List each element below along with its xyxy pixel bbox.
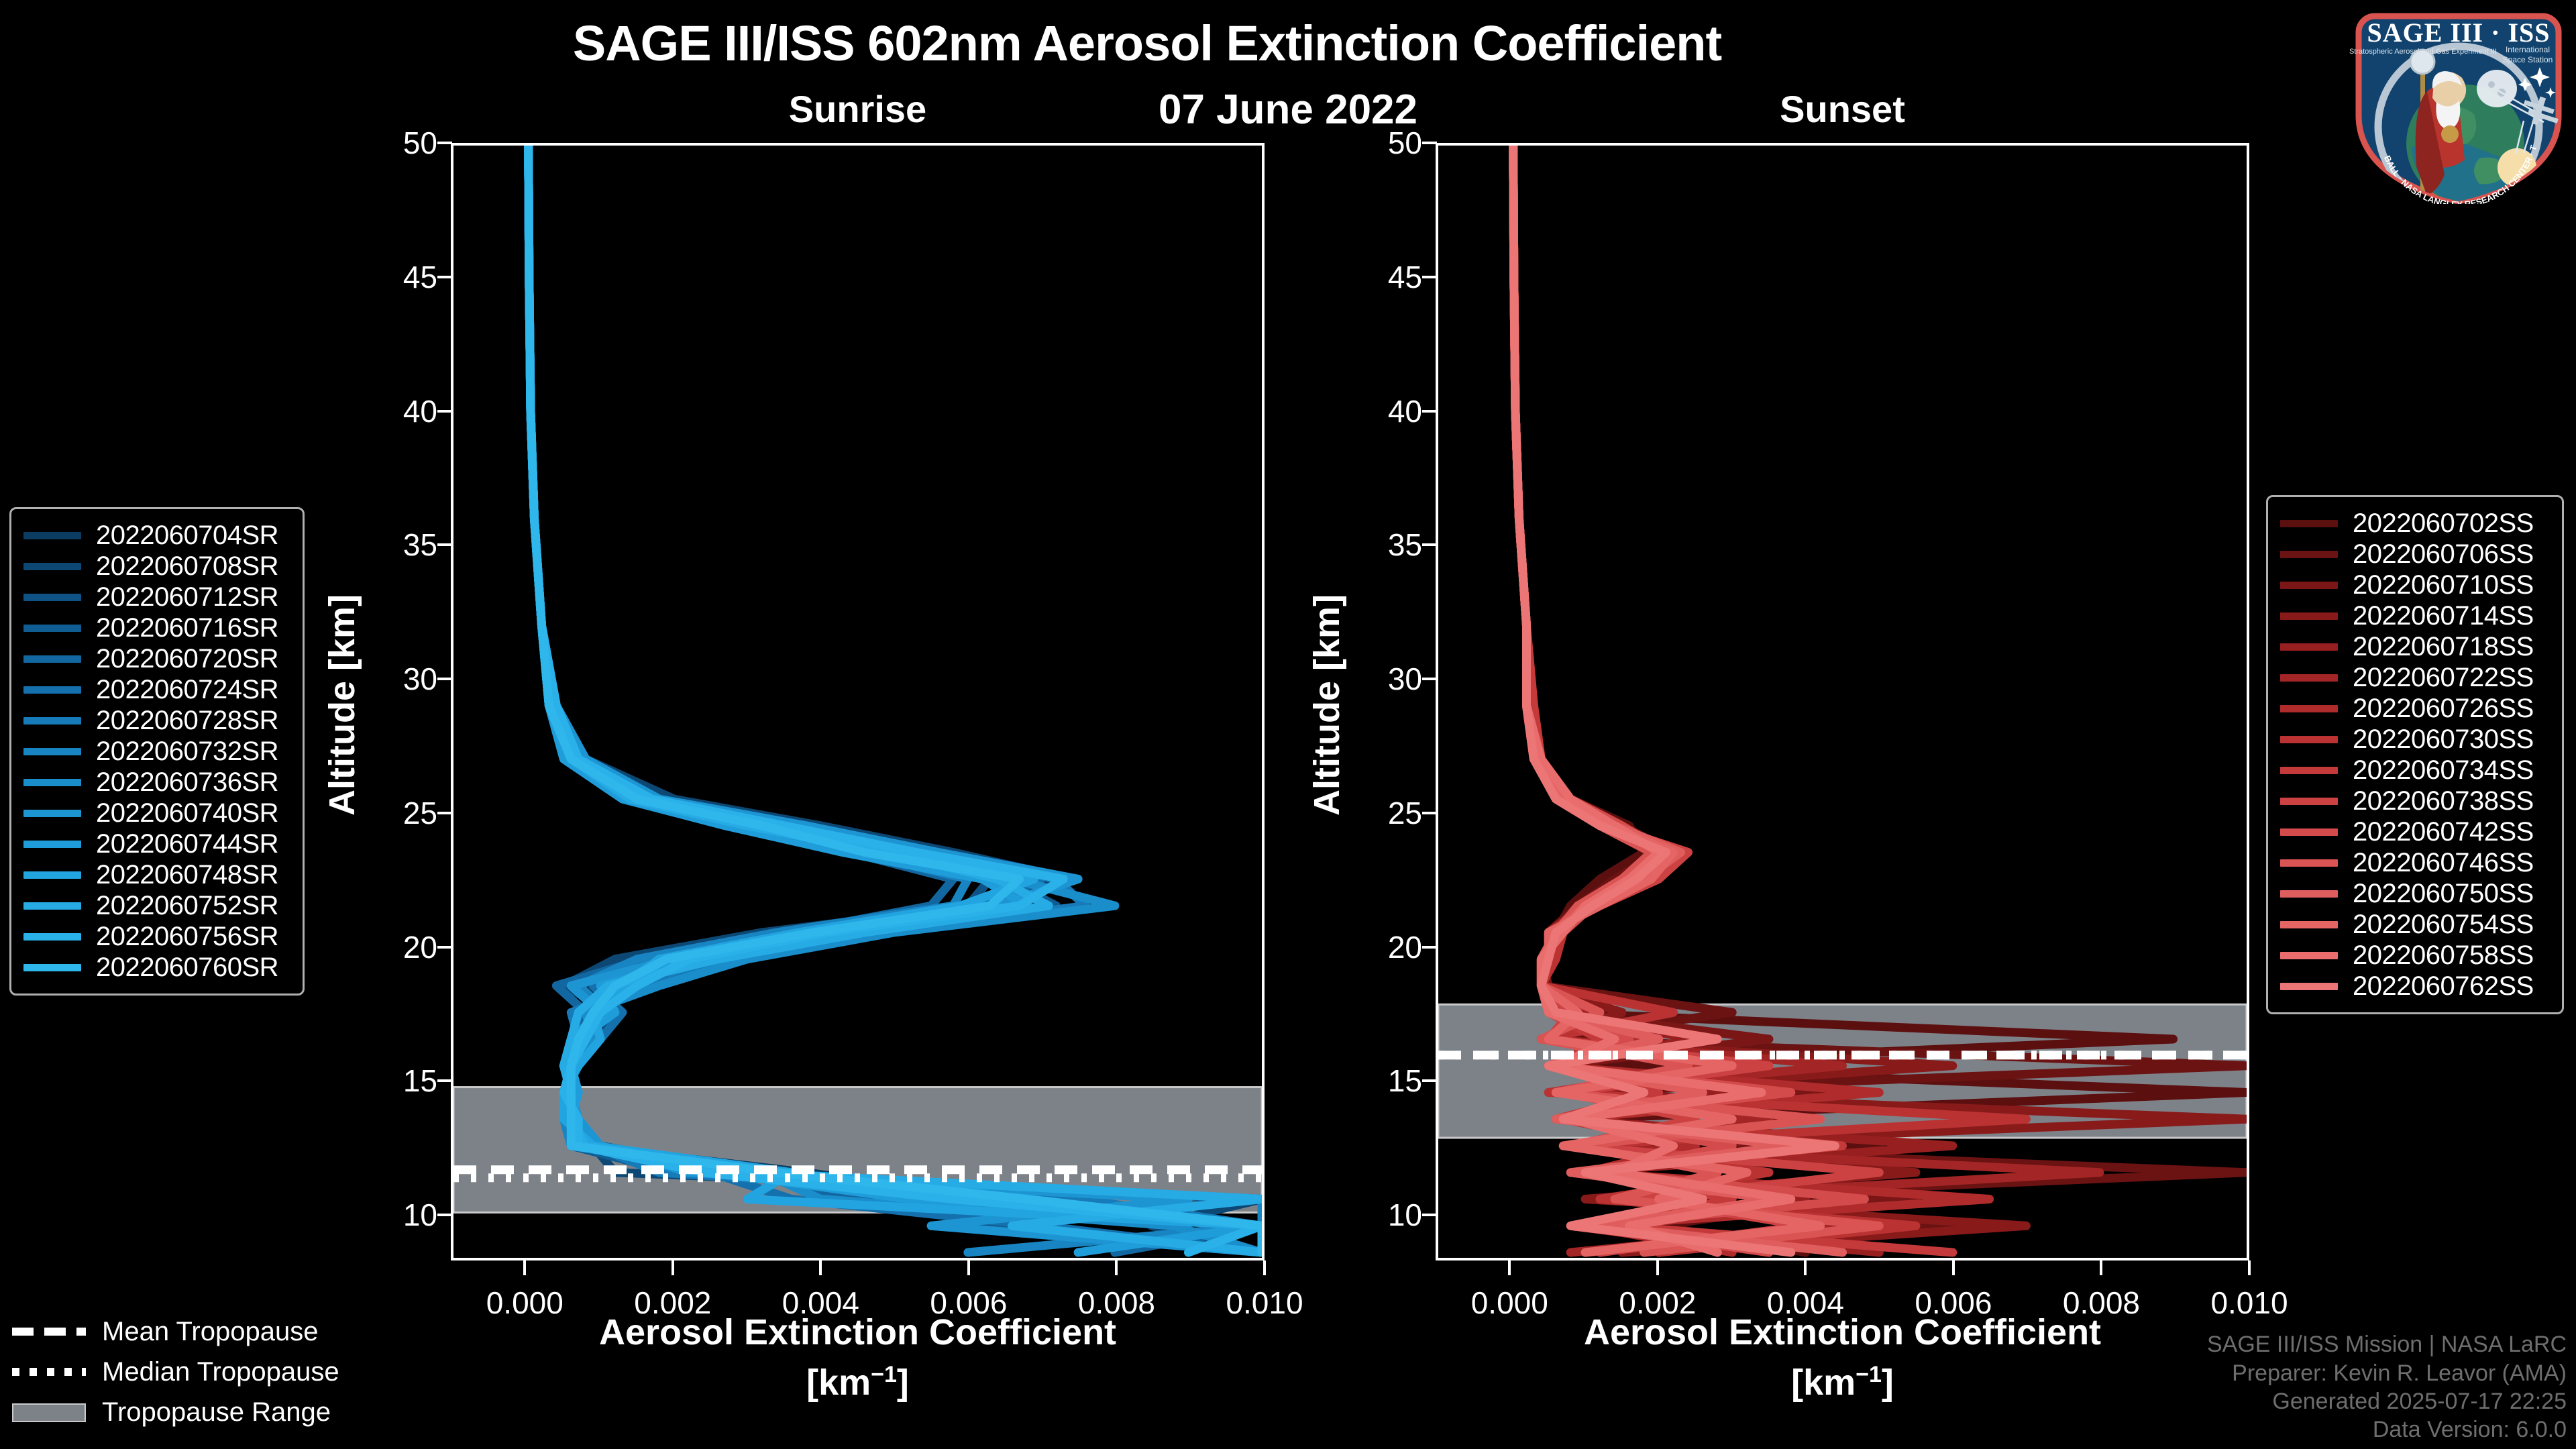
sunset-profile-lines — [1438, 146, 2247, 1258]
legend-color-swatch — [23, 964, 81, 971]
legend-event-label: 2022060754SS — [2353, 910, 2534, 940]
legend-item-2022060762SS[interactable]: 2022060762SS — [2280, 971, 2550, 1002]
unit-close: ] — [897, 1362, 909, 1403]
band-swatch-icon — [12, 1403, 86, 1421]
sunset-y-tick-label: 15 — [1328, 1063, 1422, 1099]
legend-event-label: 2022060760SR — [96, 953, 278, 983]
legend-event-label: 2022060706SS — [2353, 539, 2534, 570]
legend-event-label: 2022060722SS — [2353, 663, 2534, 693]
sunset-y-tick-label: 10 — [1328, 1197, 1422, 1233]
sunset-y-tick-mark — [1422, 1214, 1437, 1216]
sunset-y-tick-mark — [1422, 142, 1437, 144]
sunset-plot-panel[interactable] — [1436, 143, 2249, 1260]
legend-color-swatch — [2280, 705, 2338, 712]
sunrise-x-tick-mark — [1115, 1260, 1118, 1275]
legend-item-2022060716SR[interactable]: 2022060716SR — [23, 612, 290, 643]
sunset-y-tick-mark — [1422, 543, 1437, 546]
legend-item-2022060722SS[interactable]: 2022060722SS — [2280, 662, 2550, 693]
legend-item-2022060720SR[interactable]: 2022060720SR — [23, 643, 290, 674]
legend-item-2022060748SR[interactable]: 2022060748SR — [23, 859, 290, 890]
sunset-panel-title: Sunset — [1436, 87, 2249, 131]
mean-tropopause-label: Mean Tropopause — [102, 1317, 318, 1347]
sunset-y-tick-label: 50 — [1328, 125, 1422, 161]
legend-item-2022060708SR[interactable]: 2022060708SR — [23, 551, 290, 582]
legend-color-swatch — [2280, 520, 2338, 527]
legend-color-swatch — [2280, 859, 2338, 867]
dashed-line-icon — [12, 1323, 86, 1340]
legend-item-2022060718SS[interactable]: 2022060718SS — [2280, 631, 2550, 662]
sunrise-y-tick-mark — [437, 543, 452, 546]
legend-item-2022060706SS[interactable]: 2022060706SS — [2280, 539, 2550, 570]
sunset-x-tick-mark — [2248, 1260, 2251, 1275]
legend-event-label: 2022060714SS — [2353, 601, 2534, 631]
legend-event-label: 2022060704SR — [96, 521, 278, 551]
legend-item-2022060760SR[interactable]: 2022060760SR — [23, 952, 290, 983]
sunrise-y-tick-label: 35 — [343, 527, 437, 563]
sunset-x-tick-mark — [2100, 1260, 2102, 1275]
sunrise-y-tick-mark — [437, 1214, 452, 1216]
legend-event-label: 2022060758SS — [2353, 941, 2534, 971]
sunrise-x-tick-mark — [819, 1260, 822, 1275]
svg-text:Space Station: Space Station — [2503, 55, 2553, 64]
sunset-plot-area — [1438, 146, 2247, 1258]
legend-event-label: 2022060732SR — [96, 737, 278, 767]
sunset-y-axis-label: Altitude [km] — [1306, 564, 1348, 846]
sunset-x-tick-mark — [1656, 1260, 1659, 1275]
legend-color-swatch — [23, 748, 81, 755]
sunrise-panel-title: Sunrise — [451, 87, 1265, 131]
mission-patch-svg: SAGE III · ISS Stratospheric Aerosol and… — [2348, 3, 2569, 204]
legend-color-swatch — [2280, 767, 2338, 774]
legend-event-label: 2022060738SS — [2353, 786, 2534, 816]
legend-item-2022060724SR[interactable]: 2022060724SR — [23, 674, 290, 705]
sunrise-x-axis-label: Aerosol Extinction Coefficient — [451, 1311, 1265, 1353]
sunrise-x-tick-mark — [967, 1260, 970, 1275]
sunset-x-tick-mark — [1952, 1260, 1955, 1275]
sunset-y-tick-mark — [1422, 678, 1437, 680]
sunrise-y-tick-label: 10 — [343, 1197, 437, 1233]
legend-event-label: 2022060736SR — [96, 767, 278, 798]
legend-item-2022060742SS[interactable]: 2022060742SS — [2280, 816, 2550, 847]
legend-color-swatch — [23, 594, 81, 601]
sunset-y-tick-label: 45 — [1328, 259, 1422, 295]
logo-title: SAGE III · ISS — [2367, 17, 2550, 48]
unit-close: ] — [1882, 1362, 1894, 1403]
legend-item-2022060750SS[interactable]: 2022060750SS — [2280, 878, 2550, 909]
sage-iii-iss-mission-patch-logo: SAGE III · ISS Stratospheric Aerosol and… — [2348, 3, 2569, 204]
svg-text:Stratospheric Aerosol and Gas: Stratospheric Aerosol and Gas Experiment… — [2349, 48, 2497, 56]
legend-item-2022060726SS[interactable]: 2022060726SS — [2280, 693, 2550, 724]
legend-event-label: 2022060718SS — [2353, 632, 2534, 662]
legend-event-label: 2022060734SS — [2353, 755, 2534, 786]
legend-event-label: 2022060748SR — [96, 860, 278, 890]
unit-exponent: −1 — [871, 1362, 897, 1387]
legend-color-swatch — [2280, 983, 2338, 990]
sunrise-y-tick-mark — [437, 1079, 452, 1082]
sunrise-y-axis-label: Altitude [km] — [321, 564, 363, 846]
unit-base: [km — [1791, 1362, 1856, 1403]
legend-event-label: 2022060726SS — [2353, 694, 2534, 724]
legend-event-label: 2022060702SS — [2353, 508, 2534, 539]
dotted-line-icon — [12, 1363, 86, 1381]
credits-line-mission: SAGE III/ISS Mission | NASA LaRC — [2207, 1330, 2567, 1358]
sunset-y-tick-label: 40 — [1328, 393, 1422, 429]
legend-item-2022060740SR[interactable]: 2022060740SR — [23, 798, 290, 828]
legend-item-2022060710SS[interactable]: 2022060710SS — [2280, 570, 2550, 600]
legend-item-2022060756SR[interactable]: 2022060756SR — [23, 921, 290, 952]
unit-exponent: −1 — [1856, 1362, 1882, 1387]
legend-item-2022060752SR[interactable]: 2022060752SR — [23, 890, 290, 921]
legend-color-swatch — [2280, 736, 2338, 743]
sunrise-y-tick-label: 15 — [343, 1063, 437, 1099]
sunrise-x-tick-mark — [523, 1260, 526, 1275]
legend-color-swatch — [2280, 952, 2338, 959]
credits-block: SAGE III/ISS Mission | NASA LaRC Prepare… — [2207, 1330, 2567, 1444]
median-tropopause-label: Median Tropopause — [102, 1357, 339, 1387]
legend-item-2022060758SS[interactable]: 2022060758SS — [2280, 940, 2550, 971]
legend-event-label: 2022060710SS — [2353, 570, 2534, 600]
sunset-y-tick-mark — [1422, 946, 1437, 949]
legend-item-tropopause-range: Tropopause Range — [12, 1392, 388, 1432]
legend-color-swatch — [2280, 890, 2338, 898]
sunset-x-tick-mark — [1508, 1260, 1511, 1275]
legend-color-swatch — [2280, 828, 2338, 836]
legend-color-swatch — [2280, 551, 2338, 558]
legend-event-label: 2022060708SR — [96, 551, 278, 582]
sunrise-x-tick-mark — [672, 1260, 674, 1275]
sunrise-y-tick-mark — [437, 142, 452, 144]
legend-item-2022060712SR[interactable]: 2022060712SR — [23, 582, 290, 612]
legend-item-2022060738SS[interactable]: 2022060738SS — [2280, 786, 2550, 816]
sunrise-y-tick-mark — [437, 678, 452, 680]
sunset-y-tick-mark — [1422, 276, 1437, 278]
legend-color-swatch — [23, 779, 81, 786]
legend-color-swatch — [2280, 643, 2338, 651]
sunset-x-axis-unit: [km−1] — [1436, 1362, 2249, 1403]
legend-item-2022060704SR[interactable]: 2022060704SR — [23, 520, 290, 551]
legend-item-2022060732SR[interactable]: 2022060732SR — [23, 736, 290, 767]
legend-item-2022060728SR[interactable]: 2022060728SR — [23, 705, 290, 736]
legend-event-label: 2022060756SR — [96, 922, 278, 952]
legend-item-median-tropopause: Median Tropopause — [12, 1352, 388, 1392]
legend-event-label: 2022060750SS — [2353, 879, 2534, 909]
sunrise-y-tick-mark — [437, 812, 452, 814]
svg-text:International: International — [2506, 45, 2550, 54]
legend-item-2022060730SS[interactable]: 2022060730SS — [2280, 724, 2550, 755]
sunset-y-tick-label: 20 — [1328, 929, 1422, 965]
sunrise-x-axis-unit: [km−1] — [451, 1362, 1265, 1403]
tropopause-range-label: Tropopause Range — [102, 1397, 331, 1428]
legend-color-swatch — [23, 871, 81, 879]
credits-line-generated: Generated 2025-07-17 22:25 — [2207, 1387, 2567, 1415]
sunset-y-tick-mark — [1422, 1079, 1437, 1082]
sunset-event-legend[interactable]: 2022060702SS2022060706SS2022060710SS2022… — [2266, 495, 2564, 1014]
legend-color-swatch — [23, 717, 81, 724]
legend-color-swatch — [23, 841, 81, 848]
legend-event-label: 2022060730SS — [2353, 724, 2534, 755]
page-title: SAGE III/ISS 602nm Aerosol Extinction Co… — [0, 15, 2294, 72]
legend-event-label: 2022060762SS — [2353, 971, 2534, 1002]
legend-event-label: 2022060746SS — [2353, 848, 2534, 878]
sunrise-y-tick-label: 50 — [343, 125, 437, 161]
legend-item-2022060736SR[interactable]: 2022060736SR — [23, 767, 290, 798]
legend-item-2022060734SS[interactable]: 2022060734SS — [2280, 755, 2550, 786]
sunset-y-tick-label: 35 — [1328, 527, 1422, 563]
sunrise-y-tick-label: 20 — [343, 929, 437, 965]
legend-color-swatch — [23, 933, 81, 941]
legend-event-label: 2022060720SR — [96, 644, 278, 674]
legend-event-label: 2022060752SR — [96, 891, 278, 921]
credits-line-preparer: Preparer: Kevin R. Leavor (AMA) — [2207, 1359, 2567, 1387]
legend-event-label: 2022060744SR — [96, 829, 278, 859]
legend-event-label: 2022060740SR — [96, 798, 278, 828]
legend-color-swatch — [23, 625, 81, 632]
sunrise-y-tick-mark — [437, 276, 452, 278]
legend-event-label: 2022060712SR — [96, 582, 278, 612]
sunrise-plot-panel[interactable] — [451, 143, 1265, 1260]
sunset-x-axis-label: Aerosol Extinction Coefficient — [1436, 1311, 2249, 1353]
svg-text:SAGE III · ISS: SAGE III · ISS — [2367, 17, 2550, 48]
legend-item-2022060702SS[interactable]: 2022060702SS — [2280, 508, 2550, 539]
sunrise-plot-area — [453, 146, 1262, 1258]
legend-color-swatch — [23, 563, 81, 570]
legend-item-2022060744SR[interactable]: 2022060744SR — [23, 828, 290, 859]
legend-color-swatch — [2280, 798, 2338, 805]
tropopause-legend: Mean Tropopause Median Tropopause Tropop… — [12, 1311, 388, 1432]
legend-item-2022060714SS[interactable]: 2022060714SS — [2280, 600, 2550, 631]
sunrise-y-tick-mark — [437, 946, 452, 949]
sunset-x-tick-mark — [1804, 1260, 1807, 1275]
legend-color-swatch — [2280, 674, 2338, 682]
legend-event-label: 2022060716SR — [96, 613, 278, 643]
legend-item-mean-tropopause: Mean Tropopause — [12, 1311, 388, 1352]
legend-color-swatch — [23, 532, 81, 539]
legend-color-swatch — [2280, 582, 2338, 589]
legend-color-swatch — [23, 810, 81, 817]
legend-event-label: 2022060742SS — [2353, 817, 2534, 847]
unit-base: [km — [806, 1362, 871, 1403]
sunrise-y-tick-label: 45 — [343, 259, 437, 295]
legend-color-swatch — [2280, 921, 2338, 928]
legend-color-swatch — [23, 686, 81, 694]
legend-event-label: 2022060724SR — [96, 675, 278, 705]
sunset-y-tick-mark — [1422, 410, 1437, 413]
sunrise-profile-lines — [453, 146, 1262, 1258]
legend-color-swatch — [23, 902, 81, 910]
credits-line-data-version: Data Version: 6.0.0 — [2207, 1415, 2567, 1444]
legend-event-label: 2022060728SR — [96, 706, 278, 736]
sunrise-y-tick-label: 40 — [343, 393, 437, 429]
sunset-y-tick-mark — [1422, 812, 1437, 814]
legend-item-2022060754SS[interactable]: 2022060754SS — [2280, 909, 2550, 940]
legend-color-swatch — [23, 655, 81, 663]
sunrise-y-tick-mark — [437, 410, 452, 413]
legend-item-2022060746SS[interactable]: 2022060746SS — [2280, 847, 2550, 878]
legend-color-swatch — [2280, 612, 2338, 620]
sunrise-x-tick-mark — [1263, 1260, 1266, 1275]
sunrise-event-legend[interactable]: 2022060704SR2022060708SR2022060712SR2022… — [9, 507, 305, 996]
